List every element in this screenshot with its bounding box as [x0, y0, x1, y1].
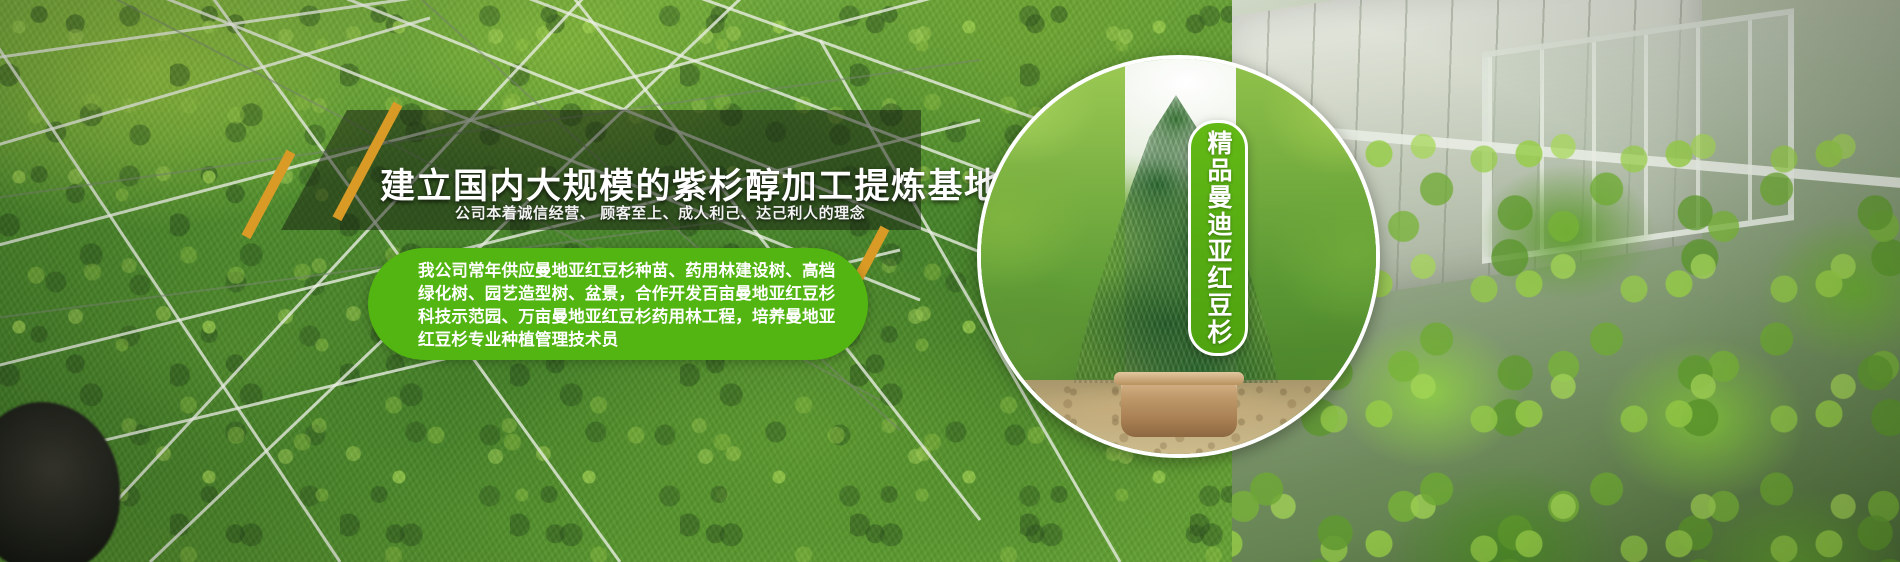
vertical-badge-label: 精品曼迪亚红豆杉	[1191, 123, 1245, 353]
subheadline-text: 公司本着诚信经营、 顾客至上、成人利己、达己利人的理念	[455, 202, 975, 223]
description-text: 我公司常年供应曼地亚红豆杉种苗、药用林建设树、高档绿化树、园艺造型树、盆景，合作…	[418, 260, 843, 352]
terracotta-pot	[1121, 379, 1237, 437]
promo-banner: 建立国内大规模的紫杉醇加工提炼基地 公司本着诚信经营、 顾客至上、成人利己、达己…	[0, 0, 1900, 562]
vertical-product-badge: 精品曼迪亚红豆杉	[1188, 120, 1248, 356]
description-panel: 我公司常年供应曼地亚红豆杉种苗、药用林建设树、高档绿化树、园艺造型树、盆景，合作…	[368, 248, 868, 360]
circular-product-photo	[977, 55, 1380, 458]
